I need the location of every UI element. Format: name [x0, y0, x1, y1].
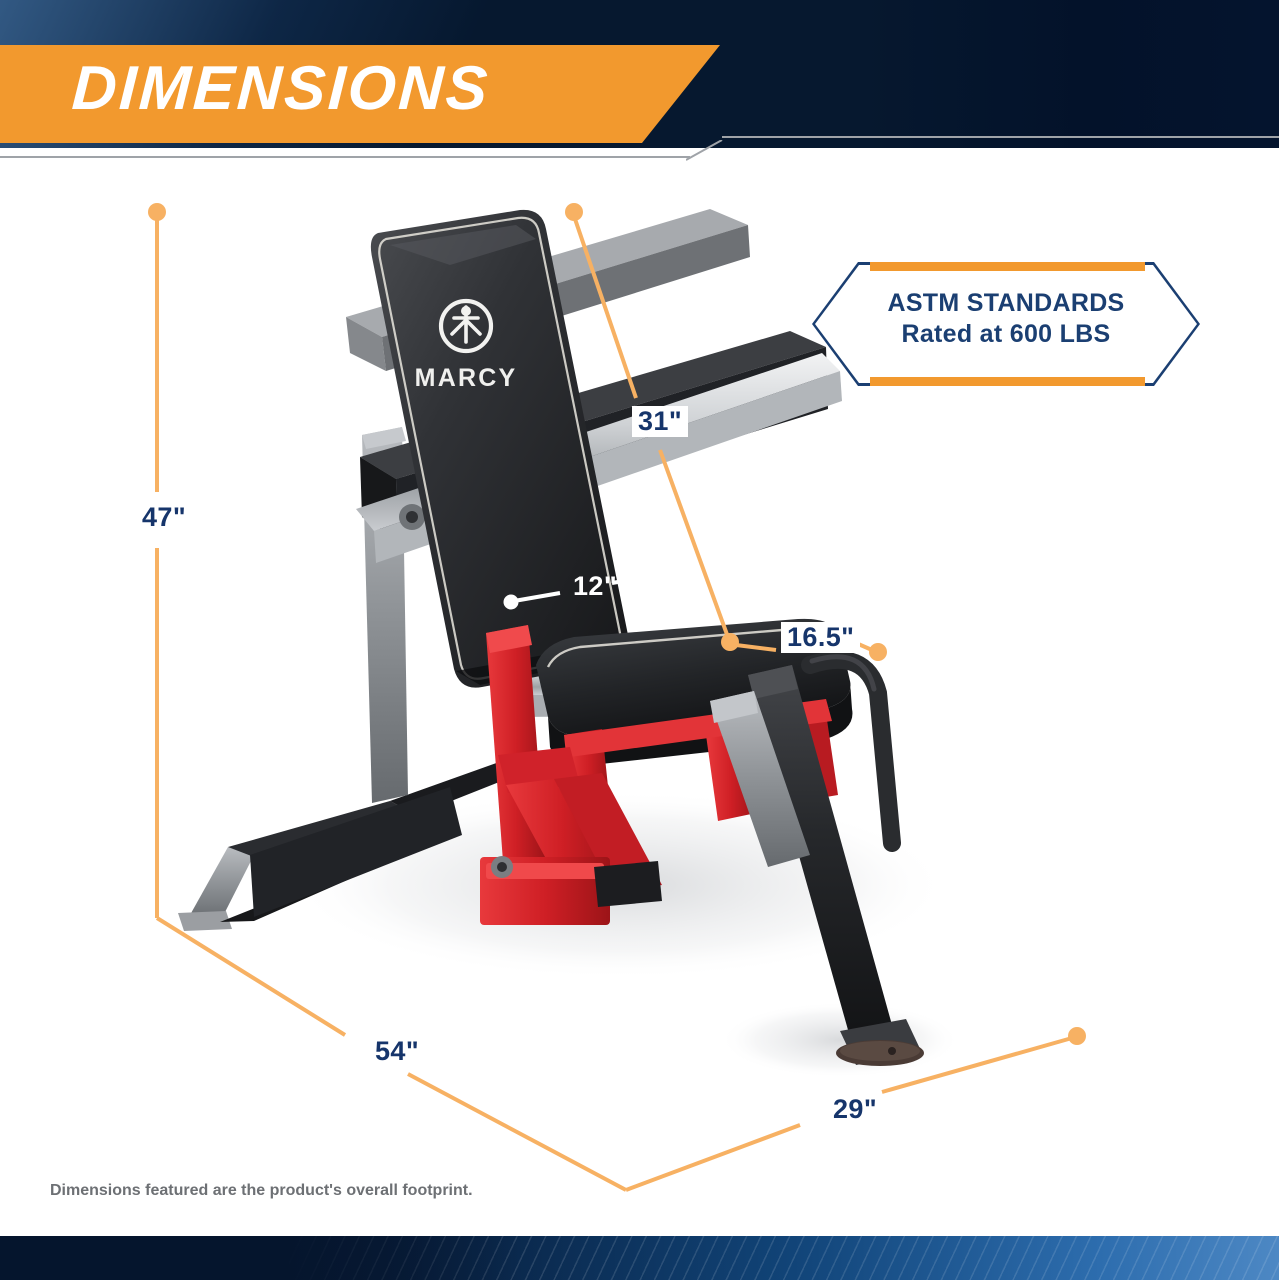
dimension-label-47: 47" — [136, 502, 192, 533]
footer-bar — [0, 1236, 1279, 1280]
header-shadow — [859, 0, 1279, 148]
header: DIMENSIONS — [0, 0, 1279, 160]
header-rule-right — [722, 136, 1279, 138]
page-title: DIMENSIONS — [70, 58, 491, 120]
footer-bar-left-fade — [0, 1236, 520, 1280]
header-rule-left — [0, 156, 690, 158]
footnote-text: Dimensions featured are the product's ov… — [50, 1182, 473, 1200]
infographic-canvas: DIMENSIONS ASTM STANDARDS Rated at 600 L… — [0, 0, 1279, 1280]
dimension-label-16-5: 16.5" — [781, 622, 860, 653]
dimension-label-29: 29" — [827, 1094, 883, 1125]
floor-shadow-rear — [720, 1002, 960, 1078]
header-rule-diagonal — [686, 140, 726, 162]
dimension-label-54: 54" — [369, 1036, 425, 1067]
marcy-wordmark: MARCY — [415, 364, 518, 392]
dimension-label-12: 12" — [567, 571, 623, 602]
product-illustration: MARCY — [150, 195, 1070, 1095]
dimension-label-31: 31" — [632, 406, 688, 437]
